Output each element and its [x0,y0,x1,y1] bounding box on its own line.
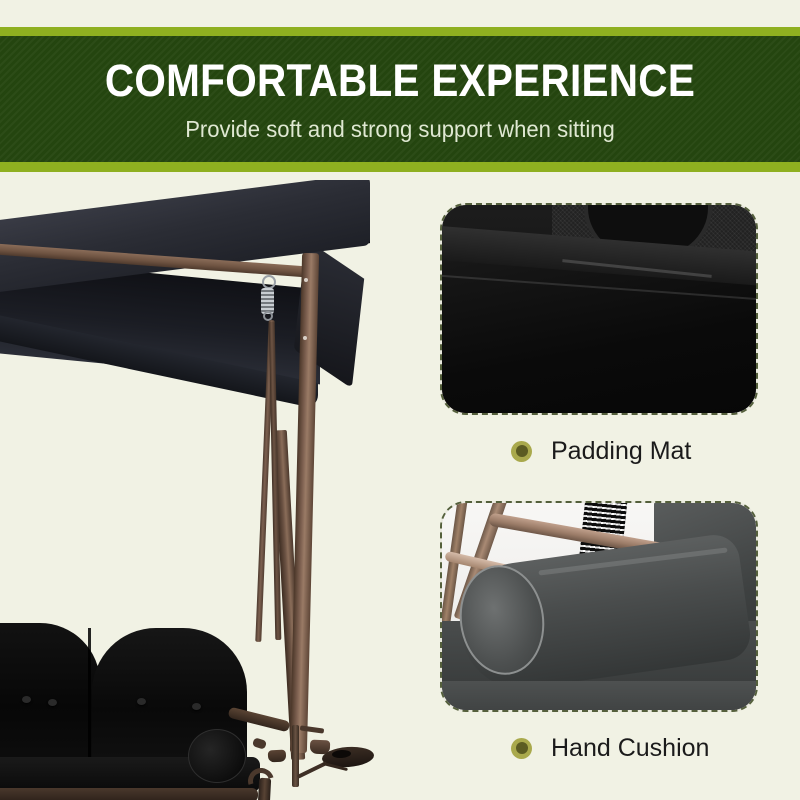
hand-cushion-photo [442,503,756,710]
padding-mat-photo [442,205,756,413]
swing-mechanism [257,778,271,800]
frame-screw-icon [303,336,307,340]
bullet-dot-icon [511,738,532,759]
caption-padding-mat: Padding Mat [511,438,691,464]
tuft-button [192,703,201,710]
bullet-dot-icon [511,441,532,462]
tuft-button [137,698,146,705]
callout-panel-padding-mat [440,203,758,415]
caption-label: Padding Mat [551,438,691,464]
armrest-cap [252,737,267,750]
header-banner: COMFORTABLE EXPERIENCE Provide soft and … [0,27,800,172]
tuft-button [22,696,31,703]
frame-screw-icon [304,278,308,282]
caption-label: Hand Cushion [551,735,709,761]
frame-foot-cap [268,750,287,763]
banner-top-stripe [0,27,800,36]
seat-back-cushion-left [0,623,100,763]
main-product-photo [0,180,420,800]
spring-hook-icon [262,275,276,289]
banner-bottom-stripe [0,162,800,172]
caption-hand-cushion: Hand Cushion [511,735,709,761]
product-feature-graphic: COMFORTABLE EXPERIENCE Provide soft and … [0,0,800,800]
bolster-pillow [188,729,246,783]
tuft-button [48,699,57,706]
seat-frame-rail [0,788,258,800]
callout-panel-hand-cushion [440,501,758,712]
banner-body: COMFORTABLE EXPERIENCE Provide soft and … [0,36,800,162]
page-title: COMFORTABLE EXPERIENCE [40,56,760,106]
seat-foreground [440,681,758,712]
page-subtitle: Provide soft and strong support when sit… [16,115,784,143]
